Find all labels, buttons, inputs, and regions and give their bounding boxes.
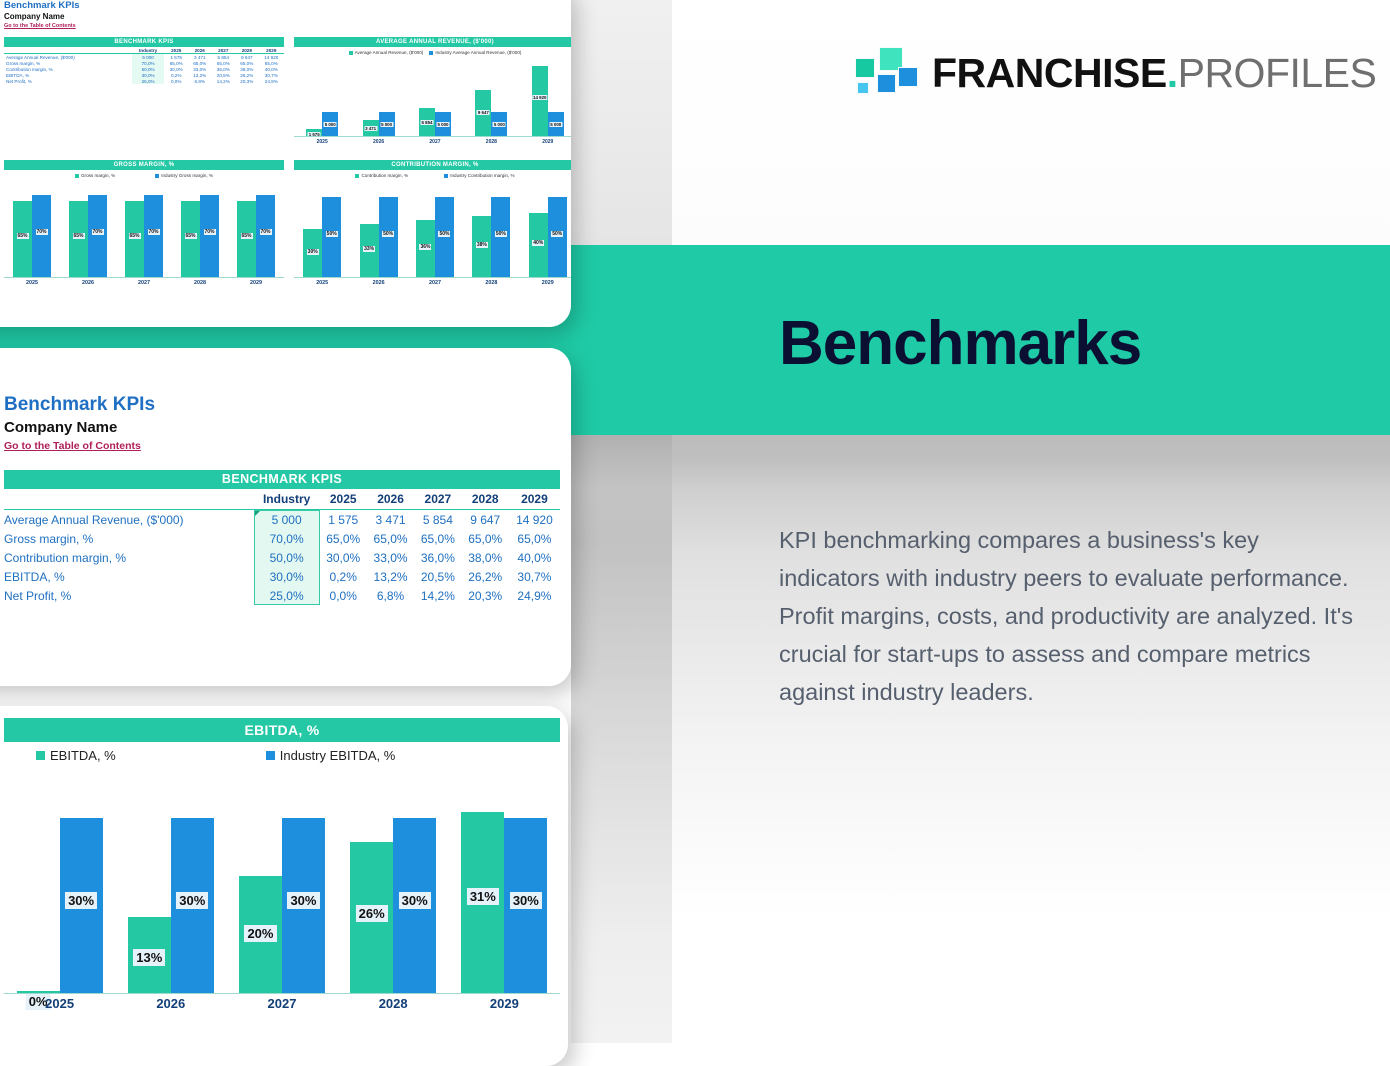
legend-item: Average Annual Revenue, ($'000) <box>349 50 424 55</box>
spreadsheet-card-table: Benchmark KPIs Company Name Go to the Ta… <box>0 348 571 686</box>
mini-contribution-margin-chart-panel: CONTRIBUTION MARGIN, % Contribution marg… <box>294 160 571 178</box>
logo-wordmark: FRANCHISE.PROFILES <box>932 50 1376 97</box>
legend-item: Industry Average Annual Revenue, ($'000) <box>429 50 521 55</box>
bar-series-company: 14 920 <box>532 66 548 136</box>
bar-group: 30%50% <box>303 182 341 277</box>
bar-value-label: 31% <box>467 888 499 905</box>
bar-group: 31%30% <box>461 784 547 993</box>
chart-axis-line <box>4 277 284 278</box>
mini-table-row: Contribution margin, %50,0%30,0%33,0%36,… <box>4 66 284 72</box>
bar-value-label: 30% <box>399 892 431 909</box>
bar-series-industry: 70% <box>256 195 275 276</box>
legend-item: Industry EBITDA, % <box>266 748 396 763</box>
row-label: Net Profit, % <box>4 586 254 605</box>
cell-2029[interactable]: 65,0% <box>509 529 560 548</box>
bar-value-label: 70% <box>147 229 159 235</box>
bar-value-label: 65% <box>128 233 140 239</box>
sheet-subtitle: Company Name <box>4 12 80 21</box>
bar-group: 26%30% <box>350 784 436 993</box>
col-header-2026: 2026 <box>367 489 414 510</box>
mini-cell-industry: 25,0% <box>132 78 165 84</box>
bar-group: 40%50% <box>529 182 567 277</box>
row-label: Contribution margin, % <box>4 548 254 567</box>
mini-kpi-table: Industry20252026202720282029 Average Ann… <box>4 47 284 84</box>
bar-value-label: 5 000 <box>380 122 393 127</box>
bar-group: 33%50% <box>360 182 398 277</box>
col-header-2027: 2027 <box>414 489 461 510</box>
cell-2027[interactable]: 20,5% <box>414 567 461 586</box>
spreadsheet-surface-top: Benchmark KPIs Company Name Go to the Ta… <box>0 0 571 327</box>
x-tick-label: 2025 <box>317 139 328 145</box>
cell-2026[interactable]: 13,2% <box>367 567 414 586</box>
mini-gross-margin-chart-title: GROSS MARGIN, % <box>4 160 284 170</box>
bar-series-company: 20% <box>239 876 282 993</box>
toc-link-large[interactable]: Go to the Table of Contents <box>4 440 155 452</box>
bar-value-label: 50% <box>551 231 563 237</box>
cell-2026[interactable]: 65,0% <box>367 529 414 548</box>
bar-value-label: 50% <box>382 231 394 237</box>
bar-group: 1 5755 000 <box>306 59 338 136</box>
mini-revenue-chart-panel: AVERAGE ANNUAL REVENUE, ($'000) Average … <box>294 37 571 55</box>
mini-cell: 14,2% <box>212 78 236 84</box>
mini-contribution-margin-chart-title: CONTRIBUTION MARGIN, % <box>294 160 571 170</box>
bar-group: 65%70% <box>69 182 107 277</box>
x-tick-label: 2028 <box>379 996 408 1038</box>
bar-series-industry: 70% <box>200 195 219 276</box>
legend-swatch <box>429 51 433 55</box>
mini-cell: 24,9% <box>259 78 284 84</box>
hero-title: Benchmarks <box>779 308 1141 379</box>
table-header-row: Industry20252026202720282029 <box>4 489 560 510</box>
x-tick-label: 2026 <box>373 280 385 286</box>
bar-series-company: 36% <box>416 220 435 277</box>
sheet-subtitle-large: Company Name <box>4 419 155 436</box>
bar-series-industry: 5 000 <box>491 112 507 136</box>
bar-series-company: 1 575 <box>306 129 322 136</box>
bar-group: 9 6475 000 <box>475 59 507 136</box>
cell-2026[interactable]: 6,8% <box>367 586 414 605</box>
bar-value-label: 65% <box>72 233 84 239</box>
bar-value-label: 5 000 <box>436 122 449 127</box>
row-label: EBITDA, % <box>4 567 254 586</box>
bar-series-industry: 5 000 <box>379 112 395 136</box>
legend-item: Industry Contribution margin, % <box>444 173 514 178</box>
hero-description: KPI benchmarking compares a business's k… <box>779 521 1359 711</box>
toc-link[interactable]: Go to the Table of Contents <box>4 23 80 29</box>
cell-2027[interactable]: 5 854 <box>414 510 461 530</box>
kpi-table: Industry20252026202720282029 Average Ann… <box>4 489 560 605</box>
cell-2025[interactable]: 65,0% <box>320 529 367 548</box>
bar-series-industry: 5 000 <box>548 112 564 136</box>
chart-x-labels: 20252026202720282029 <box>294 280 571 286</box>
bar-series-company: 65% <box>237 201 256 276</box>
ebitda-chart-legend: EBITDA, %Industry EBITDA, % <box>4 748 560 763</box>
bar-series-company: 5 854 <box>419 108 435 136</box>
col-header-2029: 2029 <box>509 489 560 510</box>
bar-value-label: 14 920 <box>532 95 547 100</box>
cell-2025[interactable]: 0,2% <box>320 567 367 586</box>
mini-contribution-margin-chart-plot: 30%50%33%50%36%50%38%50%40%50%2025202620… <box>294 182 571 290</box>
mini-table-body: Average Annual Revenue, ($'000)5 0001 57… <box>4 54 284 85</box>
mini-gross-margin-chart-plot: 65%70%65%70%65%70%65%70%65%70%2025202620… <box>4 182 284 290</box>
x-tick-label: 2028 <box>194 280 206 286</box>
spreadsheet-surface-bottom: EBITDA, % EBITDA, %Industry EBITDA, % 0%… <box>0 706 568 1066</box>
bar-series-company: 40% <box>529 213 548 276</box>
legend-swatch <box>349 51 353 55</box>
cell-2025[interactable]: 1 575 <box>320 510 367 530</box>
chart-x-labels: 20252026202720282029 <box>294 139 571 145</box>
bar-group: 65%70% <box>13 182 51 277</box>
legend-swatch <box>444 174 448 178</box>
bar-group: 20%30% <box>239 784 325 993</box>
cell-2027[interactable]: 36,0% <box>414 548 461 567</box>
cell-industry[interactable]: 30,0% <box>254 567 320 586</box>
bar-group: 0%30% <box>17 784 103 993</box>
legend-swatch <box>355 174 359 178</box>
mini-revenue-chart-plot: 1 5755 0003 4715 0005 8545 0009 6475 000… <box>294 59 571 149</box>
cell-2027[interactable]: 14,2% <box>414 586 461 605</box>
spreadsheet-card-ebitda: EBITDA, % EBITDA, %Industry EBITDA, % 0%… <box>0 706 568 1066</box>
legend-label: EBITDA, % <box>50 748 116 763</box>
cell-2029[interactable]: 40,0% <box>509 548 560 567</box>
legend-item: Gross margin, % <box>75 173 115 178</box>
cell-2028[interactable]: 26,2% <box>462 567 509 586</box>
ebitda-chart-title: EBITDA, % <box>4 718 560 742</box>
bar-series-industry: 5 000 <box>322 112 338 136</box>
bar-group: 65%70% <box>125 182 163 277</box>
bar-value-label: 30% <box>65 892 97 909</box>
ebitda-chart-plot: 0%30%13%30%20%30%26%30%31%30%20252026202… <box>4 784 560 1014</box>
table-row: Net Profit, %25,0%0,0%6,8%14,2%20,3%24,9… <box>4 586 560 605</box>
bar-group: 3 4715 000 <box>363 59 395 136</box>
bar-series-industry: 50% <box>491 197 510 276</box>
bar-series-company: 9 647 <box>475 90 491 136</box>
bar-series-industry: 70% <box>32 195 51 276</box>
logo-word-franchise: FRANCHISE <box>932 50 1167 96</box>
table-row: Average Annual Revenue, ($'000)5 0001 57… <box>4 510 560 530</box>
bar-series-industry: 30% <box>171 818 214 993</box>
x-tick-label: 2026 <box>373 139 384 145</box>
chart-x-labels: 20252026202720282029 <box>4 996 560 1038</box>
bar-value-label: 3 471 <box>364 126 377 131</box>
chart-axis-line <box>4 993 560 994</box>
legend-label: Gross margin, % <box>81 173 115 178</box>
x-tick-label: 2027 <box>268 996 297 1038</box>
cell-2028[interactable]: 38,0% <box>462 548 509 567</box>
row-label: Average Annual Revenue, ($'000) <box>4 510 254 530</box>
bar-series-company: 31% <box>461 812 504 993</box>
bar-value-label: 50% <box>326 231 338 237</box>
bar-value-label: 38% <box>476 242 488 248</box>
bar-series-industry: 50% <box>435 197 454 276</box>
x-tick-label: 2028 <box>485 280 497 286</box>
selection-corner-marker <box>255 511 260 516</box>
bar-value-label: 30% <box>176 892 208 909</box>
bar-value-label: 13% <box>133 949 165 966</box>
x-tick-label: 2026 <box>82 280 94 286</box>
bar-series-industry: 30% <box>504 818 547 993</box>
cell-2029[interactable]: 30,7% <box>509 567 560 586</box>
mini-kpi-table-panel: BENCHMARK KPIS Industry20252026202720282… <box>4 37 284 84</box>
legend-item: Contribution margin, % <box>355 173 408 178</box>
bar-value-label: 5 000 <box>493 122 506 127</box>
bar-series-industry: 50% <box>548 197 567 276</box>
bar-group: 5 8545 000 <box>419 59 451 136</box>
bar-group: 14 9205 000 <box>532 59 564 136</box>
legend-swatch <box>36 751 45 760</box>
bar-series-company: 65% <box>181 201 200 276</box>
bar-series-company: 38% <box>472 216 491 276</box>
mini-table-row: Net Profit, %25,0%0,0%6,8%14,2%20,3%24,9… <box>4 78 284 84</box>
bar-series-company: 26% <box>350 842 393 993</box>
bar-value-label: 33% <box>363 246 375 252</box>
bar-value-label: 5 000 <box>549 122 562 127</box>
cell-industry[interactable]: 70,0% <box>254 529 320 548</box>
sheet-title: Benchmark KPIs <box>4 0 80 11</box>
bar-series-company: 13% <box>128 917 171 993</box>
mini-revenue-chart-legend: Average Annual Revenue, ($'000)Industry … <box>294 50 571 55</box>
bar-value-label: 26% <box>356 905 388 922</box>
bar-series-company: 65% <box>125 201 144 276</box>
table-row: Contribution margin, %50,0%30,0%33,0%36,… <box>4 548 560 567</box>
bar-series-company: 3 471 <box>363 120 379 136</box>
bar-value-label: 65% <box>240 233 252 239</box>
spreadsheet-surface-mid: Benchmark KPIs Company Name Go to the Ta… <box>0 348 571 686</box>
cell-2029[interactable]: 24,9% <box>509 586 560 605</box>
bar-value-label: 5 854 <box>420 120 433 125</box>
cell-industry[interactable]: 5 000 <box>254 510 320 530</box>
mini-table-title: BENCHMARK KPIS <box>4 37 284 47</box>
bar-value-label: 30% <box>510 892 542 909</box>
x-tick-label: 2027 <box>138 280 150 286</box>
bar-series-company: 30% <box>303 229 322 276</box>
brand-logo: FRANCHISE.PROFILES <box>852 46 1376 100</box>
bar-value-label: 65% <box>16 233 28 239</box>
mini-cell: 0,0% <box>164 78 188 84</box>
col-header-2025: 2025 <box>320 489 367 510</box>
bar-value-label: 5 000 <box>324 122 337 127</box>
bar-value-label: 65% <box>184 233 196 239</box>
mini-row-label: Net Profit, % <box>4 78 132 84</box>
cell-2029[interactable]: 14 920 <box>509 510 560 530</box>
logo-word-profiles: PROFILES <box>1178 50 1377 96</box>
x-tick-label: 2025 <box>26 280 38 286</box>
legend-item: EBITDA, % <box>36 748 116 763</box>
x-tick-label: 2025 <box>316 280 328 286</box>
mini-cell: 20,3% <box>235 78 259 84</box>
bar-series-company: 65% <box>69 201 88 276</box>
logo-squares-icon <box>852 46 918 100</box>
sheet-header-mid: Benchmark KPIs Company Name Go to the Ta… <box>4 394 155 452</box>
col-header-2028: 2028 <box>462 489 509 510</box>
bar-value-label: 36% <box>419 244 431 250</box>
bar-series-industry: 50% <box>322 197 341 276</box>
x-tick-label: 2027 <box>429 139 440 145</box>
chart-axis-line <box>294 136 571 137</box>
legend-label: Contribution margin, % <box>361 173 408 178</box>
bar-series-company: 65% <box>13 201 32 276</box>
bar-group: 36%50% <box>416 182 454 277</box>
cell-2025[interactable]: 30,0% <box>320 548 367 567</box>
legend-label: Industry EBITDA, % <box>280 748 396 763</box>
col-header-industry: Industry <box>254 489 320 510</box>
legend-label: Average Annual Revenue, ($'000) <box>355 50 424 55</box>
bar-group: 38%50% <box>472 182 510 277</box>
x-tick-label: 2029 <box>250 280 262 286</box>
cell-industry[interactable]: 25,0% <box>254 586 320 605</box>
mini-gross-margin-chart-panel: GROSS MARGIN, % Gross margin, %Industry … <box>4 160 284 178</box>
bar-series-industry: 30% <box>393 818 436 993</box>
mini-table-row: Average Annual Revenue, ($'000)5 0001 57… <box>4 54 284 61</box>
table-row: Gross margin, %70,0%65,0%65,0%65,0%65,0%… <box>4 529 560 548</box>
bar-value-label: 20% <box>244 925 276 942</box>
bar-value-label: 50% <box>438 231 450 237</box>
x-tick-label: 2029 <box>542 139 553 145</box>
sheet-title-large: Benchmark KPIs <box>4 394 155 416</box>
bar-value-label: 30% <box>287 892 319 909</box>
bar-series-industry: 30% <box>60 818 103 993</box>
sheet-header-top: Benchmark KPIs Company Name Go to the Ta… <box>4 0 80 29</box>
bar-value-label: 70% <box>259 229 271 235</box>
legend-label: Industry Contribution margin, % <box>450 173 514 178</box>
bar-group: 65%70% <box>181 182 219 277</box>
bar-series-industry: 50% <box>379 197 398 276</box>
mini-gross-margin-chart-legend: Gross margin, %Industry Gross margin, % <box>4 173 284 178</box>
bar-group: 13%30% <box>128 784 214 993</box>
cell-2026[interactable]: 33,0% <box>367 548 414 567</box>
table-row: EBITDA, %30,0%0,2%13,2%20,5%26,2%30,7% <box>4 567 560 586</box>
bar-value-label: 30% <box>307 249 319 255</box>
bar-value-label: 70% <box>35 229 47 235</box>
legend-swatch <box>155 174 159 178</box>
bar-value-label: 70% <box>91 229 103 235</box>
mini-contribution-margin-chart-legend: Contribution margin, %Industry Contribut… <box>294 173 571 178</box>
cell-industry[interactable]: 50,0% <box>254 548 320 567</box>
legend-label: Industry Average Annual Revenue, ($'000) <box>435 50 521 55</box>
cell-2026[interactable]: 3 471 <box>367 510 414 530</box>
bar-series-company: 33% <box>360 224 379 276</box>
logo-dot: . <box>1167 50 1178 96</box>
bar-series-industry: 70% <box>88 195 107 276</box>
legend-swatch <box>75 174 79 178</box>
x-tick-label: 2027 <box>429 280 441 286</box>
bar-value-label: 50% <box>495 231 507 237</box>
x-tick-label: 2026 <box>156 996 185 1038</box>
chart-axis-line <box>294 277 571 278</box>
bar-series-industry: 70% <box>144 195 163 276</box>
bar-group: 65%70% <box>237 182 275 277</box>
chart-x-labels: 20252026202720282029 <box>4 280 284 286</box>
bar-value-label: 70% <box>203 229 215 235</box>
kpi-table-wrapper: BENCHMARK KPIS Industry20252026202720282… <box>4 470 560 605</box>
x-tick-label: 2029 <box>490 996 519 1038</box>
mini-cell: 6,8% <box>188 78 212 84</box>
x-tick-label: 2028 <box>486 139 497 145</box>
legend-swatch <box>266 751 275 760</box>
bar-value-label: 40% <box>532 240 544 246</box>
cell-2027[interactable]: 65,0% <box>414 529 461 548</box>
bar-series-industry: 5 000 <box>435 112 451 136</box>
row-label: Gross margin, % <box>4 529 254 548</box>
mini-revenue-chart-title: AVERAGE ANNUAL REVENUE, ($'000) <box>294 37 571 47</box>
cell-2025[interactable]: 0,0% <box>320 586 367 605</box>
spreadsheet-card-overview: Benchmark KPIs Company Name Go to the Ta… <box>0 0 571 327</box>
bar-series-industry: 30% <box>282 818 325 993</box>
col-header-label <box>4 489 254 510</box>
x-tick-label: 2025 <box>45 996 74 1038</box>
x-tick-label: 2029 <box>542 280 554 286</box>
legend-item: Industry Gross margin, % <box>155 173 213 178</box>
table-body: Average Annual Revenue, ($'000)5 0001 57… <box>4 510 560 606</box>
legend-label: Industry Gross margin, % <box>161 173 213 178</box>
kpi-table-title: BENCHMARK KPIS <box>4 470 560 489</box>
cell-2028[interactable]: 20,3% <box>462 586 509 605</box>
cell-2028[interactable]: 9 647 <box>462 510 509 530</box>
cell-2028[interactable]: 65,0% <box>462 529 509 548</box>
bar-value-label: 9 647 <box>477 110 490 115</box>
